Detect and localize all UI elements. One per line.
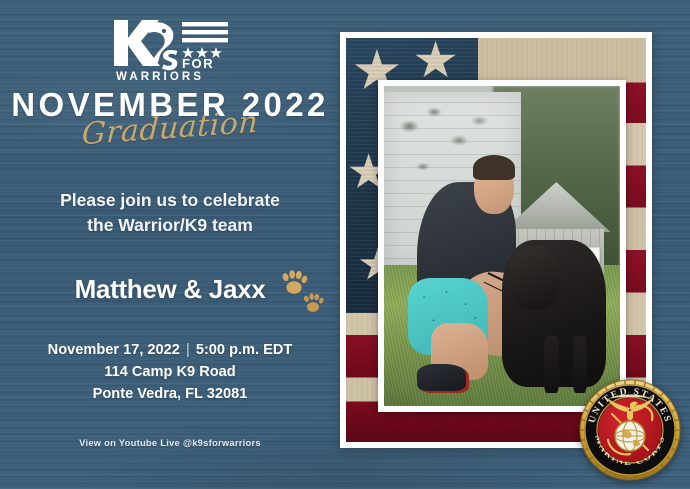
event-date-time-line: November 17, 2022 | 5:00 p.m. EDT [0,339,340,361]
event-date: November 17, 2022 [48,342,180,358]
event-address-line-2: Ponte Vedra, FL 32081 [0,383,340,405]
photo-vignette [384,86,620,406]
event-time: 5:00 p.m. EDT [196,342,293,358]
k9s-for-warriors-logo: FOR WARRIORS [108,14,232,82]
event-address-line-1: 114 Camp K9 Road [0,361,340,383]
photo-mat: FOR WARRIORS [378,80,626,412]
youtube-live-link[interactable]: View on Youtube Live @k9sforwarriors [0,437,340,448]
flag-star [415,41,457,81]
logo-warriors-text: WARRIORS [116,71,204,82]
usmc-seal-icon: UNITED STATES MARINE CORPS [578,378,682,482]
left-content-column: FOR WARRIORS NOVEMBER 2022 Graduation Pl… [0,0,340,489]
invitation-line-1: Please join us to celebrate [0,188,340,213]
k9s-for-warriors-logo-icon: FOR WARRIORS [108,14,232,82]
invitation-text: Please join us to celebrate the Warrior/… [0,188,340,238]
graduation-invitation-poster: FOR WARRIORS NOVEMBER 2022 Graduation Pl… [0,0,690,489]
logo-for-text: FOR [182,56,214,71]
honoree-row: Matthew & Jaxx [0,270,340,316]
invitation-line-2: the Warrior/K9 team [0,213,340,238]
united-states-marine-corps-seal: UNITED STATES MARINE CORPS [578,378,682,482]
graduation-photo: FOR WARRIORS [384,86,620,406]
title-block: NOVEMBER 2022 Graduation [0,88,340,158]
event-details: November 17, 2022 | 5:00 p.m. EDT 114 Ca… [0,339,340,406]
details-separator: | [184,342,192,358]
paw-print-icon [276,270,328,316]
